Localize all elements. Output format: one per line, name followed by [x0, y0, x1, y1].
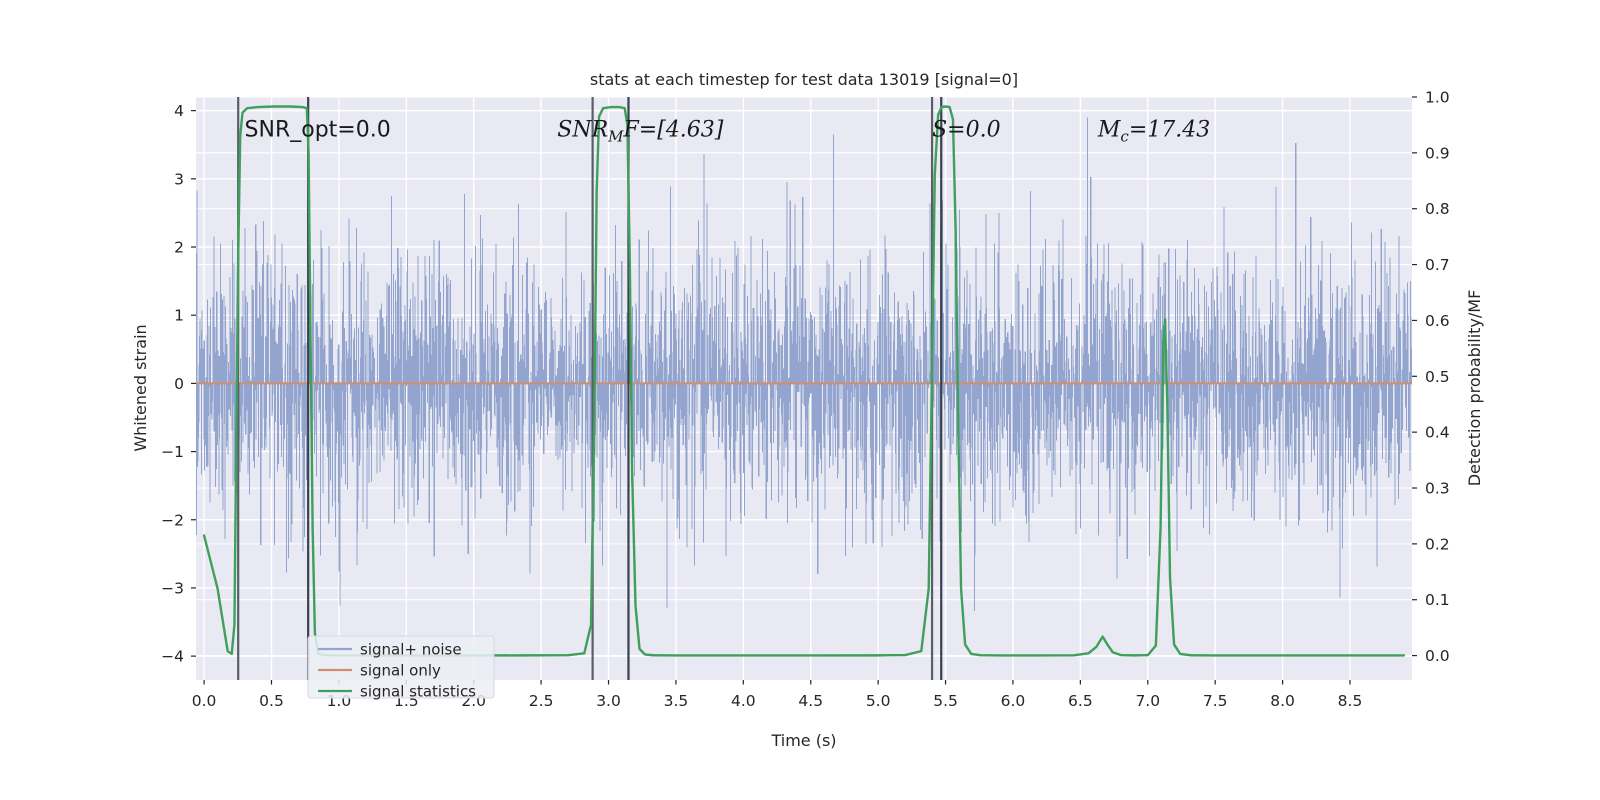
y-tick-label: −4 [161, 648, 184, 666]
y-tick-label-right: 0.3 [1425, 480, 1450, 498]
x-tick-label: 3.5 [664, 692, 689, 710]
y-tick-label: −3 [161, 579, 184, 597]
y-tick-label-right: 0.8 [1425, 200, 1450, 218]
x-tick-label: 6.0 [1001, 692, 1026, 710]
y-tick-label-right: 0.9 [1425, 144, 1450, 162]
legend-label: signal+ noise [360, 641, 462, 659]
y-tick-label: 1 [174, 307, 184, 325]
y-tick-label: −1 [161, 443, 184, 461]
y-tick-label-right: 0.4 [1425, 424, 1450, 442]
x-tick-label: 8.5 [1338, 692, 1363, 710]
y-axis-title: Whitened strain [131, 324, 150, 451]
y-tick-label-right: 0.2 [1425, 535, 1450, 553]
legend-label: signal only [360, 662, 441, 680]
y-tick-label-right: 0.1 [1425, 591, 1450, 609]
x-tick-label: 5.0 [866, 692, 891, 710]
annotation-text: Mc=17.43 [1097, 118, 1210, 146]
y-tick-label: 3 [174, 170, 184, 188]
legend-label: signal statistics [360, 683, 476, 701]
x-axis-title: Time (s) [770, 731, 836, 750]
annotation-text: S=0.0 [932, 118, 1001, 143]
x-tick-label: 0.5 [259, 692, 284, 710]
x-tick-label: 7.0 [1135, 692, 1160, 710]
y-tick-label-right: 0.6 [1425, 312, 1450, 330]
y-tick-label: 2 [174, 239, 184, 257]
x-tick-label: 0.0 [192, 692, 217, 710]
y-tick-label-right: 0.7 [1425, 256, 1450, 274]
legend: signal+ noisesignal onlysignal statistic… [308, 636, 494, 701]
y-tick-label: 0 [174, 375, 184, 393]
plot-title: stats at each timestep for test data 130… [590, 70, 1018, 89]
plot-svg: 0.00.51.01.52.02.53.03.54.04.55.05.56.06… [0, 0, 1600, 800]
figure-canvas: 0.00.51.01.52.02.53.03.54.04.55.05.56.06… [0, 0, 1600, 800]
annotation-snr-opt: SNR_opt=0.0 [245, 118, 391, 143]
annotation-snr-mf: SNRMF=[4.63] [557, 118, 724, 146]
annotation-signal-flag: S=0.0 [932, 118, 1001, 143]
x-tick-label: 3.0 [596, 692, 621, 710]
x-tick-label: 4.0 [731, 692, 756, 710]
x-tick-label: 6.5 [1068, 692, 1093, 710]
x-tick-label: 8.0 [1270, 692, 1295, 710]
x-tick-label: 5.5 [933, 692, 958, 710]
y-axis-title-right: Detection probability/MF [1465, 290, 1484, 487]
annotation-text: SNR_opt=0.0 [245, 118, 391, 143]
y-tick-label: 4 [174, 102, 184, 120]
y-tick-label: −2 [161, 511, 184, 529]
x-tick-label: 4.5 [798, 692, 823, 710]
annotation-chirp-mass: Mc=17.43 [1097, 118, 1210, 146]
y-tick-label-right: 1.0 [1425, 89, 1450, 107]
annotation-text: SNRMF=[4.63] [557, 118, 724, 146]
y-tick-label-right: 0.5 [1425, 368, 1450, 386]
x-tick-label: 2.5 [529, 692, 554, 710]
x-tick-label: 7.5 [1203, 692, 1228, 710]
y-tick-label-right: 0.0 [1425, 647, 1450, 665]
